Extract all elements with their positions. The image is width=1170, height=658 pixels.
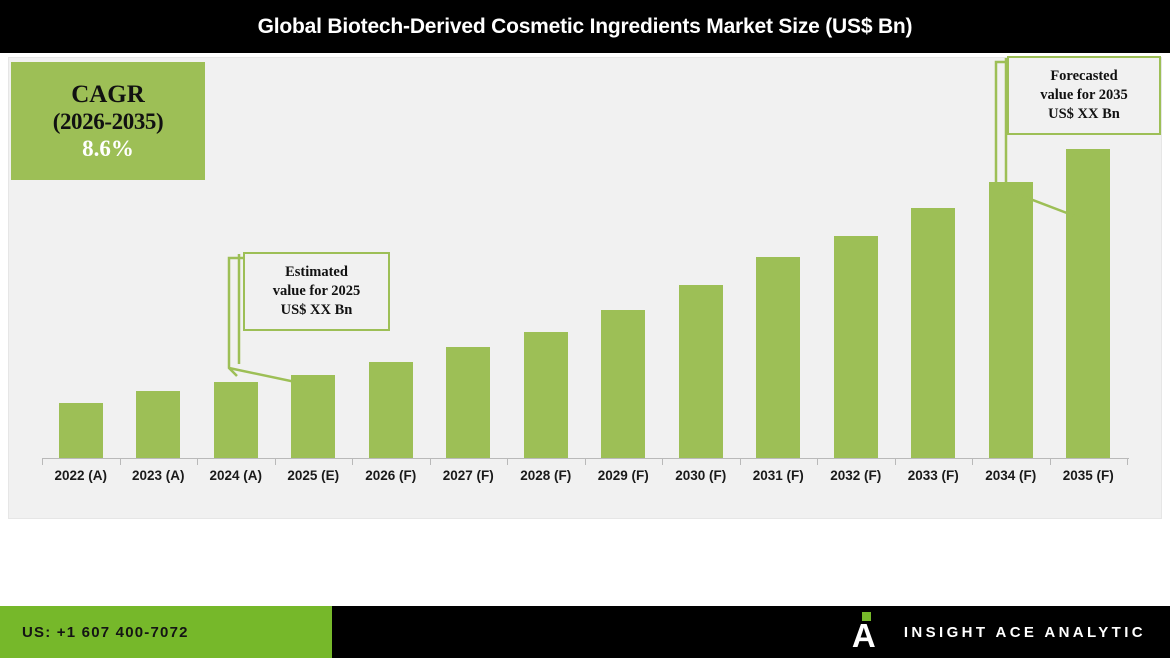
x-label-2030: 2030 (F) [662, 468, 740, 483]
bar-2022 [59, 403, 103, 458]
callout-2035-line1: Forecasted [1050, 67, 1117, 86]
x-tick [662, 458, 663, 465]
callout-forecasted-2035: Forecasted value for 2035 US$ XX Bn [1007, 56, 1161, 135]
x-tick [352, 458, 353, 465]
bar-2031 [756, 257, 800, 458]
x-tick [585, 458, 586, 465]
callout-2025-line3: US$ XX Bn [281, 301, 353, 320]
x-tick [1127, 458, 1128, 465]
x-tick [972, 458, 973, 465]
x-tick [507, 458, 508, 465]
insight-ace-logo-icon: A [852, 612, 886, 652]
footer-bar: US: +1 607 400-7072 A INSIGHT ACE ANALYT… [0, 606, 1170, 658]
footer-brand: A INSIGHT ACE ANALYTIC [852, 606, 1146, 658]
x-tick [817, 458, 818, 465]
x-label-2035: 2035 (F) [1050, 468, 1128, 483]
brand-letter: A [852, 620, 876, 651]
bar-2029 [601, 310, 645, 458]
x-label-2028: 2028 (F) [507, 468, 585, 483]
x-label-2022: 2022 (A) [42, 468, 120, 483]
callout-2025-line2: value for 2025 [273, 282, 361, 301]
x-label-2026: 2026 (F) [352, 468, 430, 483]
callout-2035-line2: value for 2035 [1040, 86, 1128, 105]
x-label-2025: 2025 (E) [275, 468, 353, 483]
x-tick [197, 458, 198, 465]
footer-contact-block: US: +1 607 400-7072 [0, 606, 332, 658]
bar-2024 [214, 382, 258, 458]
callout-2035-line3: US$ XX Bn [1048, 105, 1120, 124]
brand-name: INSIGHT ACE ANALYTIC [904, 624, 1146, 641]
x-tick [740, 458, 741, 465]
infographic-page: Global Biotech-Derived Cosmetic Ingredie… [0, 0, 1170, 658]
x-tick [120, 458, 121, 465]
x-label-2029: 2029 (F) [585, 468, 663, 483]
bar-2027 [446, 347, 490, 458]
x-label-2033: 2033 (F) [895, 468, 973, 483]
bar-2030 [679, 285, 723, 458]
x-axis-labels: 2022 (A)2023 (A)2024 (A)2025 (E)2026 (F)… [0, 468, 1170, 494]
contributors-strip: Market Contributors: mibelle GROUP bioch… [0, 520, 1170, 605]
bar-2023 [136, 391, 180, 458]
callout-estimated-2025: Estimated value for 2025 US$ XX Bn [243, 252, 390, 331]
x-label-2024: 2024 (A) [197, 468, 275, 483]
x-tick [42, 458, 43, 465]
bar-2033 [911, 208, 955, 458]
x-label-2032: 2032 (F) [817, 468, 895, 483]
callout-2025-line1: Estimated [285, 263, 348, 282]
x-tick [1050, 458, 1051, 465]
x-tick [895, 458, 896, 465]
x-tick [275, 458, 276, 465]
x-label-2031: 2031 (F) [740, 468, 818, 483]
x-label-2027: 2027 (F) [430, 468, 508, 483]
x-axis-line [42, 458, 1129, 459]
x-tick [430, 458, 431, 465]
footer-phone[interactable]: US: +1 607 400-7072 [22, 624, 189, 641]
x-label-2023: 2023 (A) [120, 468, 198, 483]
bar-2028 [524, 332, 568, 458]
bar-2032 [834, 236, 878, 458]
x-label-2034: 2034 (F) [972, 468, 1050, 483]
